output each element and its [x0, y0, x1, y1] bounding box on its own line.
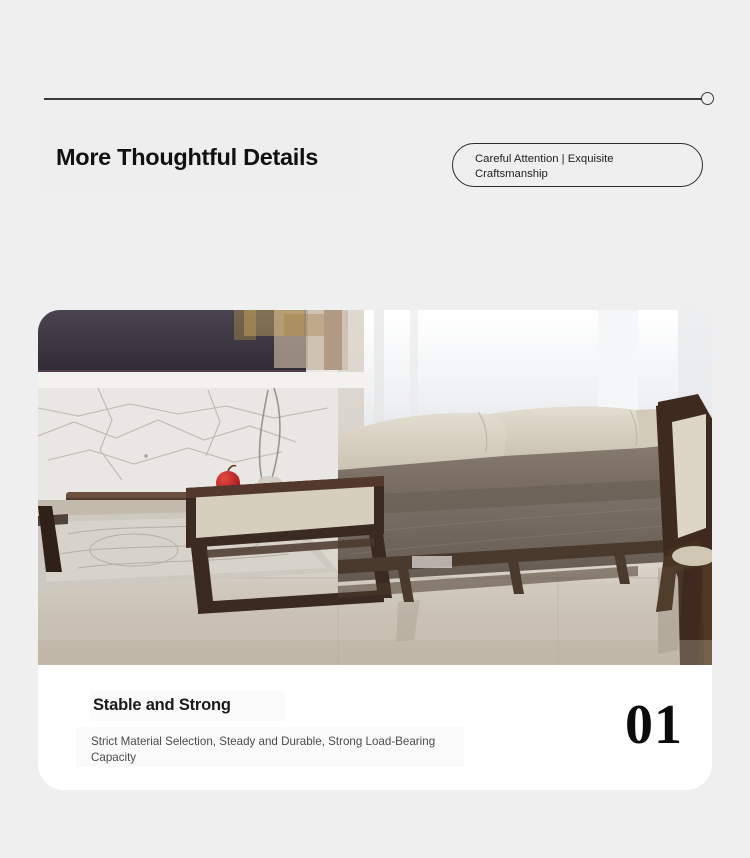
- feature-card[interactable]: Stable and Strong Strict Material Select…: [38, 310, 712, 790]
- caption-body: Strict Material Selection, Steady and Du…: [91, 734, 451, 765]
- tagline-badge[interactable]: Careful Attention | Exquisite Craftsmans…: [452, 143, 703, 187]
- circle-outline-icon: [701, 92, 714, 105]
- feature-photo: [38, 310, 712, 665]
- caption-heading: Stable and Strong: [93, 692, 231, 718]
- interior-photo-illustration: [38, 310, 712, 665]
- feature-number: 01: [594, 694, 712, 756]
- header-rule: [44, 91, 714, 107]
- tagline-badge-label: Careful Attention | Exquisite Craftsmans…: [475, 152, 675, 181]
- page-root: More Thoughtful Details Careful Attentio…: [0, 0, 750, 858]
- horizontal-line-icon: [44, 98, 704, 100]
- page-title: More Thoughtful Details: [56, 140, 386, 174]
